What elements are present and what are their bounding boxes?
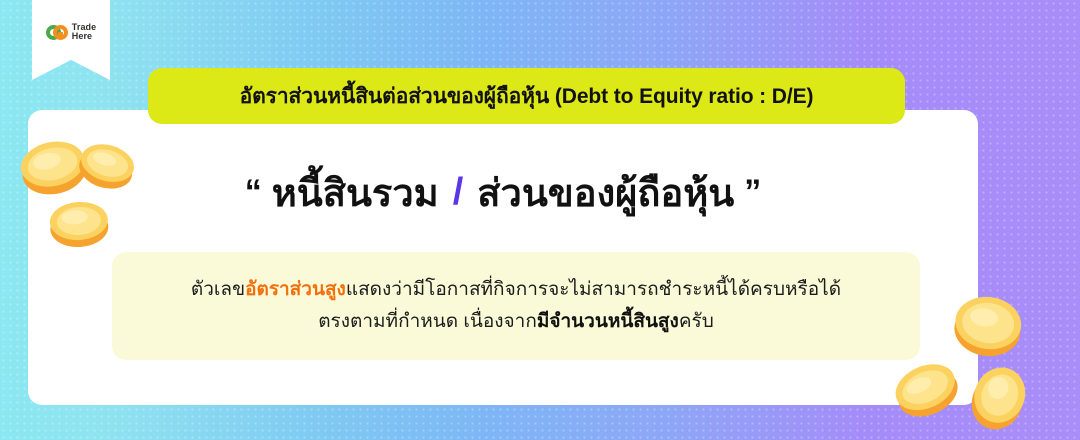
infographic-canvas: Trade Here อัตราส่วนหนี้สินต่อส่วนของผู้…	[0, 0, 1080, 440]
brand-name-line-2: Here	[72, 32, 97, 42]
brand-name: Trade Here	[72, 23, 97, 42]
explanation-line-2: ตรงตามที่กำหนด เนื่องจากมีจำนวนหนี้สินสู…	[318, 309, 714, 335]
brand-ribbon: Trade Here	[32, 0, 110, 80]
explanation-line-1-suffix: แสดงว่ามีโอกาสที่กิจการจะไม่สามารถชำระหน…	[346, 279, 841, 300]
brand-logo: Trade Here	[46, 23, 97, 42]
coin-icon-right-top	[948, 287, 1028, 362]
formula-close-quote: ”	[744, 173, 761, 212]
trade-here-rings-logo-icon	[46, 25, 68, 40]
formula-line: “ หนี้สินรวม / ส่วนของผู้ถือหุ้น ”	[28, 150, 978, 234]
formula-denominator: ส่วนของผู้ถือหุ้น	[477, 162, 734, 223]
explanation-line-1: ตัวเลขอัตราส่วนสูงแสดงว่ามีโอกาสที่กิจกา…	[191, 277, 841, 303]
formula-numerator: หนี้สินรวม	[272, 162, 439, 223]
page-title: อัตราส่วนหนี้สินต่อส่วนของผู้ถือหุ้น (De…	[240, 80, 814, 113]
explanation-box: ตัวเลขอัตราส่วนสูงแสดงว่ามีโอกาสที่กิจกา…	[112, 252, 920, 360]
title-banner: อัตราส่วนหนี้สินต่อส่วนของผู้ถือหุ้น (De…	[148, 68, 905, 124]
formula-operator: /	[449, 171, 468, 214]
explanation-line-2-prefix: ตรงตามที่กำหนด เนื่องจาก	[318, 311, 537, 332]
explanation-line-1-highlight: อัตราส่วนสูง	[245, 279, 346, 300]
explanation-line-2-suffix: ครับ	[679, 311, 714, 332]
explanation-line-2-highlight: มีจำนวนหนี้สินสูง	[537, 311, 679, 332]
formula-open-quote: “	[245, 173, 262, 212]
logo-ring-orange	[53, 25, 68, 40]
explanation-line-1-prefix: ตัวเลข	[191, 279, 245, 300]
